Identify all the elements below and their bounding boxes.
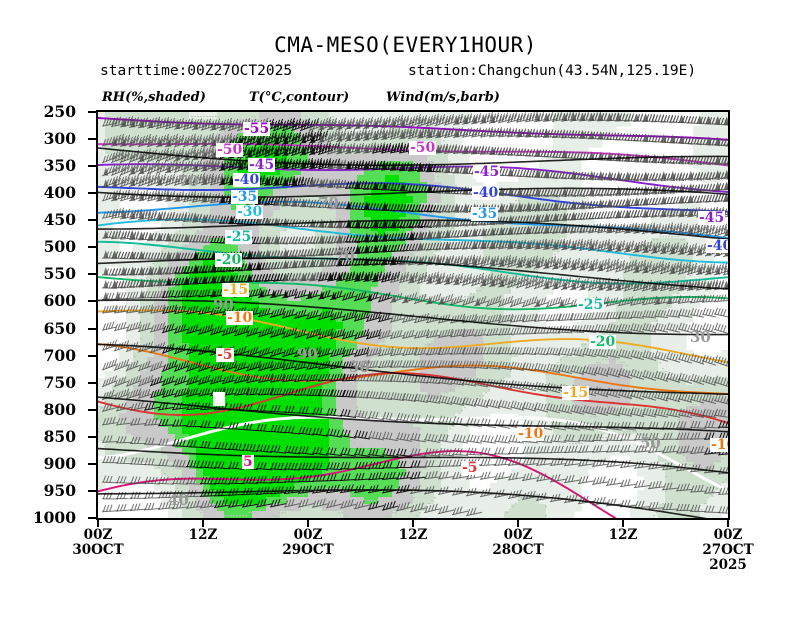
y-tick-label: 700 (16, 346, 76, 365)
wind-barb (546, 297, 561, 307)
wind-barb (130, 503, 146, 510)
rh-contour-label: 40 (168, 493, 189, 508)
y-tick-mark (88, 300, 97, 302)
wind-barb (606, 478, 622, 486)
temperature-contour-label: -55 (243, 122, 270, 136)
y-tick-label: 450 (16, 210, 76, 229)
temperature-contour-label: -5 (461, 461, 479, 475)
x-tick-label: 00Z30OCT (43, 528, 153, 558)
y-tick-label: 950 (16, 481, 76, 500)
wind-barb (102, 505, 118, 512)
x-tick-mark (412, 519, 414, 527)
x-tick-time: 00Z (463, 528, 573, 543)
x-tick-mark (97, 519, 99, 527)
temperature-contour-label: -20 (215, 253, 242, 267)
y-tick-label: 750 (16, 373, 76, 392)
y-tick-label: 1000 (16, 508, 76, 527)
wind-barb (723, 181, 728, 189)
x-tick-time: 00Z (673, 528, 783, 543)
x-tick-time: 00Z (43, 528, 153, 543)
wind-barb (114, 322, 128, 331)
x-tick-date: 27OCT (673, 543, 783, 558)
wind-barb (471, 146, 490, 154)
temperature-contour-label: -50 (216, 143, 243, 157)
rh-contour-label: 90 (297, 347, 318, 362)
legend-wind: Wind(m/s,barb) (386, 90, 500, 105)
x-tick-mark (307, 519, 309, 527)
wind-barb (678, 115, 697, 123)
temperature-contour-label: -15 (222, 283, 249, 297)
y-tick-label: 250 (16, 102, 76, 121)
temperature-contour-label: -20 (589, 335, 616, 349)
temperature-contour-label: -15 (562, 386, 589, 400)
y-tick-mark (88, 273, 97, 275)
temperature-contour-label: -45 (473, 165, 500, 179)
temperature-contour-label: -45 (248, 158, 275, 172)
wind-barb (494, 435, 510, 443)
temperature-contour-label: -30 (236, 205, 263, 219)
x-tick-year: 2025 (673, 558, 783, 573)
temperature-contour-label: -45 (698, 211, 725, 225)
y-tick-mark (88, 355, 97, 357)
wind-barb (714, 308, 728, 317)
y-tick-mark (88, 517, 97, 519)
y-tick-label: 900 (16, 454, 76, 473)
x-tick-time: 12Z (358, 528, 468, 543)
x-tick-mark (202, 519, 204, 527)
temperature-contour-label: -50 (409, 141, 436, 155)
y-tick-label: 350 (16, 156, 76, 175)
wind-barb (480, 472, 496, 480)
rh-contour-label: 70 (318, 196, 339, 211)
legend-temp: T(°C,contour) (249, 90, 349, 105)
temperature-contour-label: -10 (517, 427, 544, 441)
y-tick-mark (88, 463, 97, 465)
y-tick-label: 300 (16, 129, 76, 148)
starttime-label: starttime:00Z27OCT2025 (100, 63, 292, 79)
y-tick-mark (88, 382, 97, 384)
wind-barb (102, 292, 116, 300)
y-tick-label: 550 (16, 264, 76, 283)
rh-contour-label: 50 (640, 436, 661, 451)
wind-barb (114, 291, 128, 299)
station-label: station:Changchun(43.54N,125.19E) (408, 63, 696, 79)
wind-barb (592, 476, 608, 484)
temperature-contour-label: -25 (225, 230, 252, 244)
x-tick-label: 00Z28OCT (463, 528, 573, 558)
legend-rh: RH(%,shaded) (102, 90, 206, 105)
y-tick-mark (88, 192, 97, 194)
y-tick-mark (88, 409, 97, 411)
temperature-contour-label: -40 (472, 186, 499, 200)
wind-barb (494, 419, 510, 428)
y-tick-mark (88, 165, 97, 167)
rh-contour-label: 70 (334, 249, 355, 264)
x-tick-time: 12Z (148, 528, 258, 543)
wind-barb (620, 479, 636, 487)
wind-barb (480, 459, 496, 466)
temperature-contour-label: -10 (710, 438, 730, 452)
temperature-contour-label: -40 (233, 173, 260, 187)
y-tick-label: 400 (16, 183, 76, 202)
rh-contour-label: 50 (349, 360, 370, 375)
rh-contour-label: 90 (213, 298, 234, 313)
y-tick-mark (88, 246, 97, 248)
x-tick-mark (622, 519, 624, 527)
y-tick-mark (88, 328, 97, 330)
wind-barb (144, 503, 160, 510)
wind-barb (714, 323, 728, 333)
x-tick-label: 12Z (568, 528, 678, 543)
temperature-contour-label: 5 (242, 455, 254, 469)
y-tick-label: 800 (16, 400, 76, 419)
page-title: CMA-MESO(EVERY1HOUR) (0, 33, 811, 57)
wind-barb (480, 435, 496, 443)
temperature-contour-label: 0 (213, 392, 225, 406)
wind-barb (546, 313, 561, 321)
temperature-contour-label: -5 (216, 348, 234, 362)
y-tick-mark (88, 490, 97, 492)
y-tick-label: 600 (16, 291, 76, 310)
wind-barb (508, 447, 524, 454)
x-tick-label: 00Z27OCT2025 (673, 528, 783, 573)
rh-contour-label: 30 (690, 330, 711, 345)
y-tick-mark (88, 436, 97, 438)
temperature-contour-label: -40 (706, 239, 730, 253)
x-tick-date: 29OCT (253, 543, 363, 558)
wind-barb (144, 491, 160, 498)
temperature-contour-label: -35 (471, 207, 498, 221)
wind-barb (702, 308, 716, 317)
temperature-contour-label: -25 (577, 298, 604, 312)
x-tick-label: 12Z (358, 528, 468, 543)
y-tick-mark (88, 138, 97, 140)
y-tick-mark (88, 219, 97, 221)
x-tick-label: 12Z (148, 528, 258, 543)
y-tick-mark (88, 111, 97, 113)
x-tick-date: 28OCT (463, 543, 573, 558)
x-tick-date: 30OCT (43, 543, 153, 558)
wind-barb (116, 504, 132, 511)
x-tick-mark (517, 519, 519, 527)
wind-barb (102, 322, 116, 331)
rh-contour-label: 70 (178, 174, 199, 189)
x-tick-mark (727, 519, 729, 527)
x-tick-time: 12Z (568, 528, 678, 543)
chart-plot-area[interactable]: -55-50-45-40-35-30-25-20-15-10-505-50-45… (96, 110, 730, 520)
wind-barb (494, 447, 510, 454)
y-tick-label: 500 (16, 237, 76, 256)
temperature-contour-label: -35 (231, 190, 258, 204)
y-tick-label: 850 (16, 427, 76, 446)
y-tick-label: 650 (16, 319, 76, 338)
x-tick-label: 00Z29OCT (253, 528, 363, 558)
x-tick-time: 00Z (253, 528, 363, 543)
